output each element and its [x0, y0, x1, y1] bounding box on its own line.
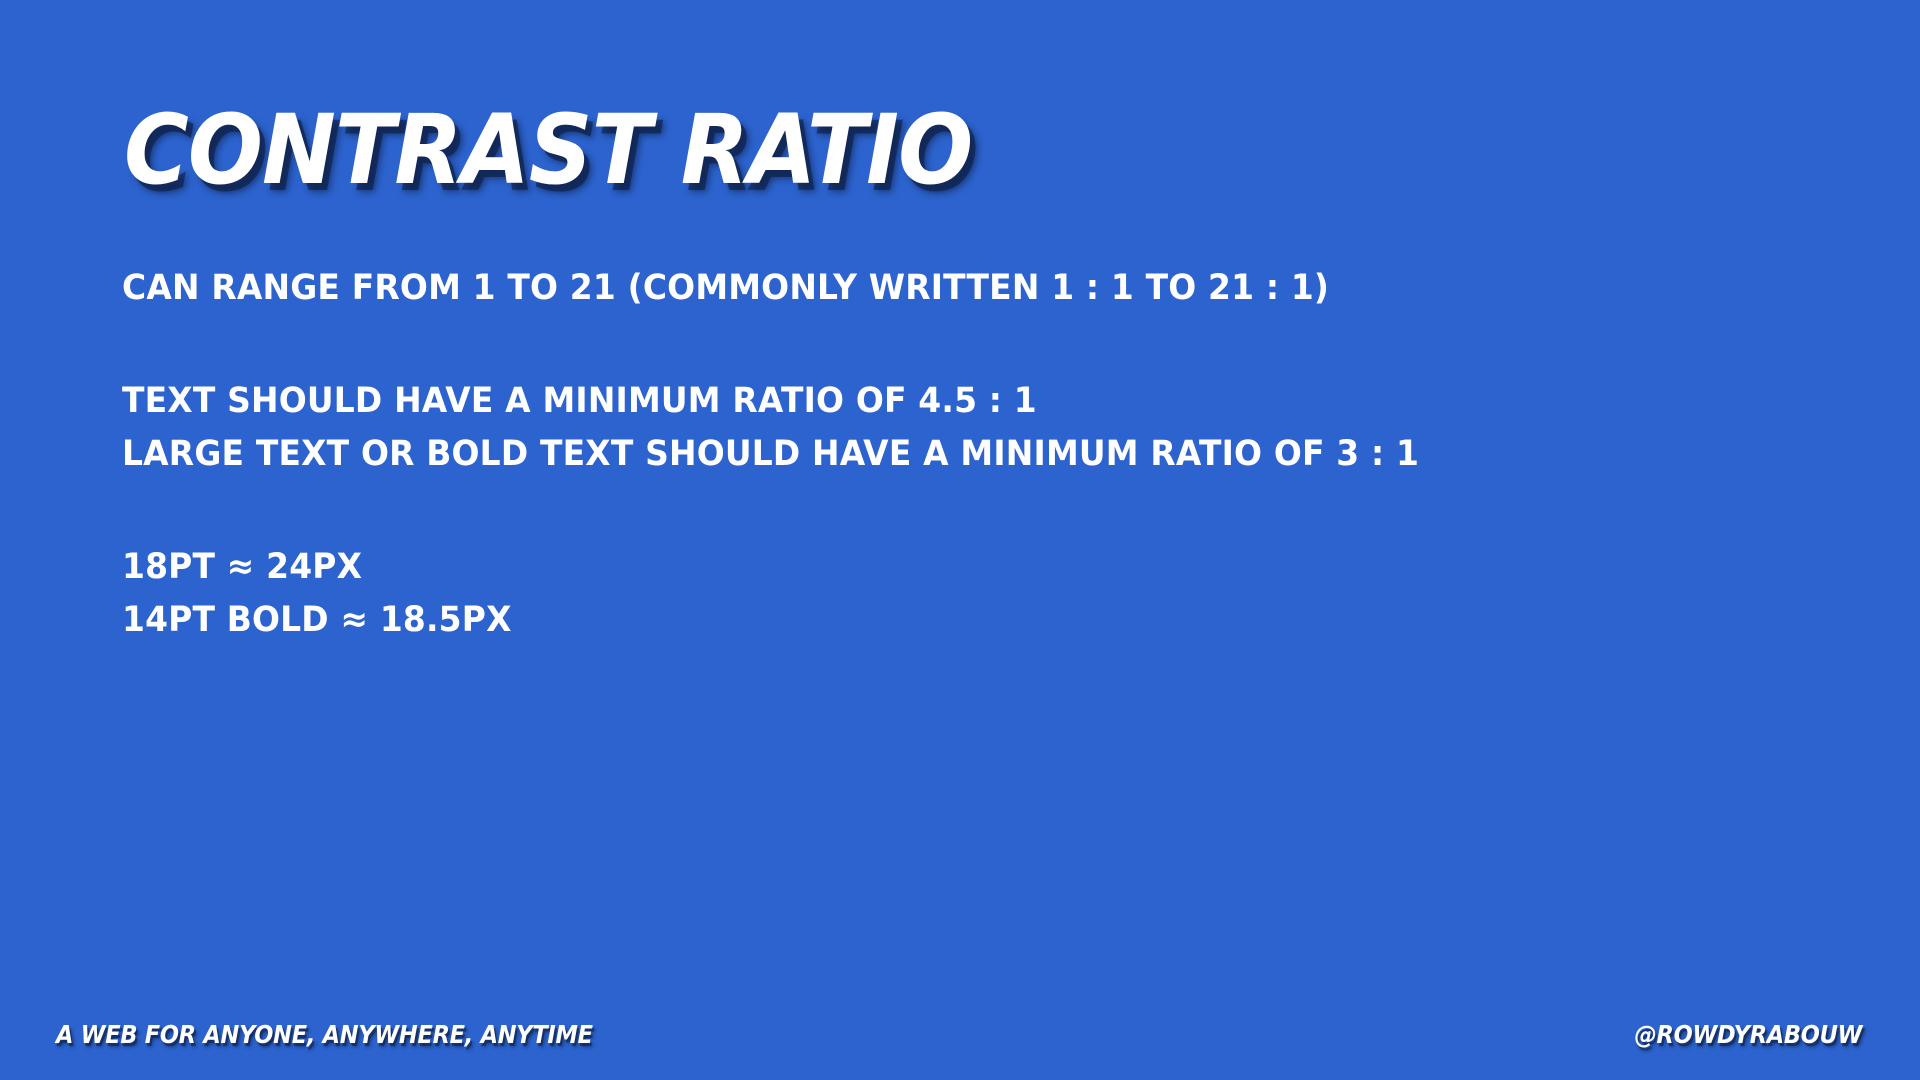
body-line: 18PT ≈ 24PX: [122, 541, 1720, 594]
body-line: CAN RANGE FROM 1 TO 21 (COMMONLY WRITTEN…: [122, 262, 1720, 315]
body-block: 18PT ≈ 24PX 14PT BOLD ≈ 18.5PX: [122, 541, 1822, 647]
body-line: LARGE TEXT OR BOLD TEXT SHOULD HAVE A MI…: [122, 428, 1720, 481]
body-block: CAN RANGE FROM 1 TO 21 (COMMONLY WRITTEN…: [122, 262, 1822, 315]
body-line: 14PT BOLD ≈ 18.5PX: [122, 594, 1720, 647]
page-title: CONTRAST RATIO: [124, 102, 972, 198]
footer-social-handle: @ROWDYRABOUW: [1634, 1022, 1862, 1047]
slide-body: CAN RANGE FROM 1 TO 21 (COMMONLY WRITTEN…: [122, 262, 1822, 647]
footer-tagline: A WEB FOR ANYONE, ANYWHERE, ANYTIME: [56, 1022, 593, 1047]
presentation-slide: CONTRAST RATIO CAN RANGE FROM 1 TO 21 (C…: [0, 0, 1920, 1080]
body-block: TEXT SHOULD HAVE A MINIMUM RATIO OF 4.5 …: [122, 375, 1822, 481]
body-line: TEXT SHOULD HAVE A MINIMUM RATIO OF 4.5 …: [122, 375, 1720, 428]
